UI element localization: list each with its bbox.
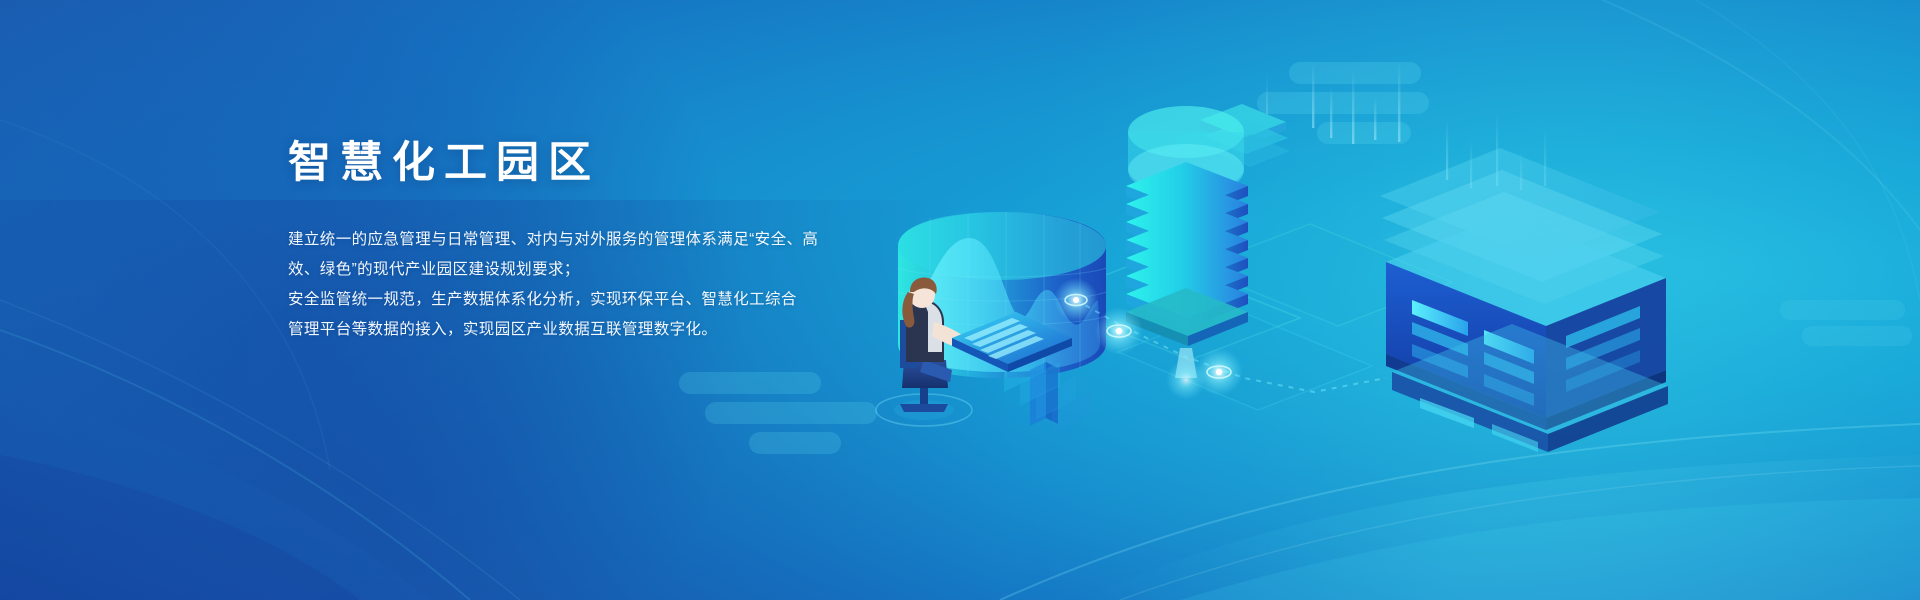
server-rack-lower xyxy=(1392,324,1668,452)
glow-node xyxy=(1095,307,1143,355)
glow-node xyxy=(1195,348,1243,396)
isometric-floor-grid xyxy=(1040,224,1452,410)
cloud-ribbon-top-right xyxy=(1257,62,1429,144)
cylinder-grid xyxy=(898,212,1106,378)
person-arm xyxy=(932,322,974,351)
glow-node xyxy=(1054,278,1098,322)
cloud-ribbon-far-right xyxy=(1780,300,1912,346)
glow-node xyxy=(1166,360,1206,400)
glow-node-group xyxy=(1054,278,1243,400)
description-line-3: 安全监管统一规范，生产数据体系化分析，实现环保平台、智慧化工综合 xyxy=(288,285,908,315)
page-title: 智慧化工园区 xyxy=(288,142,908,185)
description-line-1: 建立统一的应急管理与日常管理、对内与对外服务的管理体系满足“安全、高 xyxy=(288,225,908,255)
banner-copy: 智慧化工园区 建立统一的应急管理与日常管理、对内与对外服务的管理体系满足“安全、… xyxy=(288,142,908,345)
person-torso xyxy=(906,300,944,362)
description-line-4: 管理平台等数据的接入，实现园区产业数据互联管理数字化。 xyxy=(288,315,908,345)
rack-blades-right xyxy=(1566,306,1640,392)
person-hair xyxy=(910,278,937,294)
light-rain-streaks xyxy=(1266,60,1546,190)
hero-banner: 智慧化工园区 建立统一的应急管理与日常管理、对内与对外服务的管理体系满足“安全、… xyxy=(0,0,1920,600)
server-rack-back xyxy=(1380,148,1664,304)
keyboard-keys xyxy=(964,318,1044,359)
layered-data-tower xyxy=(1126,106,1248,378)
chair-stem xyxy=(920,386,928,404)
person-shirt xyxy=(924,302,942,352)
rack-blades-left xyxy=(1412,300,1534,406)
chair-seat xyxy=(902,360,948,388)
description-line-2: 效、绿色”的现代产业园区建设规划要求； xyxy=(288,255,908,285)
chair-base xyxy=(900,404,948,412)
connection-path xyxy=(1076,300,1386,392)
data-cylinder-chart xyxy=(898,212,1106,426)
keyboard xyxy=(952,312,1072,372)
person-legs xyxy=(920,360,952,382)
floating-layer-chip xyxy=(1200,104,1290,167)
banner-description: 建立统一的应急管理与日常管理、对内与对外服务的管理体系满足“安全、高 效、绿色”… xyxy=(288,225,908,345)
background-wash-right xyxy=(1000,0,1920,600)
server-rack-front xyxy=(1386,214,1666,430)
person-head xyxy=(909,282,935,308)
cloud-ribbon-bottom-left xyxy=(679,372,877,454)
tower-slabs xyxy=(1126,162,1248,346)
isometric-bar-steps xyxy=(1004,348,1092,434)
